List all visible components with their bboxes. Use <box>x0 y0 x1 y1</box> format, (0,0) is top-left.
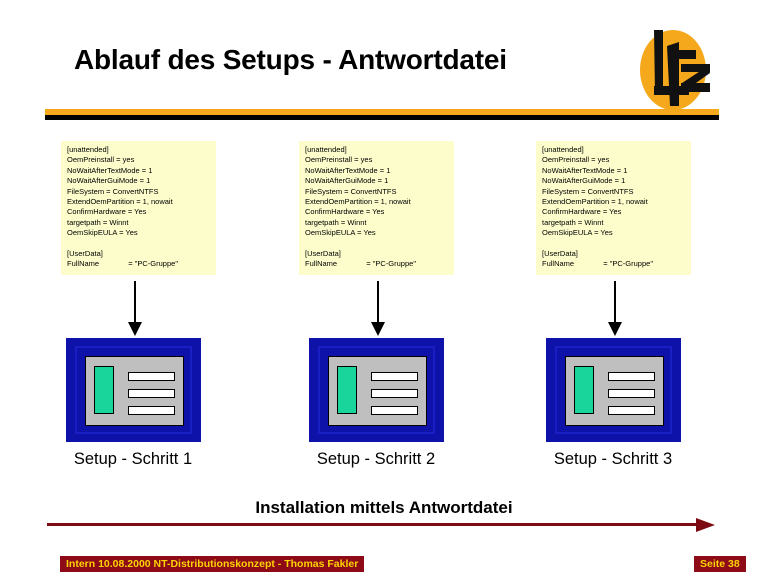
lrz-logo <box>634 28 716 112</box>
process-caption: Installation mittels Antwortdatei <box>0 498 768 518</box>
screen-line-1 <box>128 372 175 381</box>
step-label-1: Setup - Schritt 1 <box>33 450 233 469</box>
answer-file-box-3: [unattended] OemPreinstall = yes NoWaitA… <box>536 141 691 275</box>
screen-panel-icon <box>337 366 357 414</box>
screen-line-2 <box>608 389 655 398</box>
screen-line-2 <box>128 389 175 398</box>
screen-panel-icon <box>94 366 114 414</box>
monitor-screen <box>565 356 664 426</box>
footer-text: Intern 10.08.2000 NT-Distributionskonzep… <box>66 558 358 570</box>
monitor-screen <box>328 356 427 426</box>
screen-line-3 <box>128 406 175 415</box>
screen-panel-icon <box>574 366 594 414</box>
footer-bar: Intern 10.08.2000 NT-Distributionskonzep… <box>60 556 364 572</box>
arrow-shaft <box>377 281 379 325</box>
down-arrow-icon-2 <box>371 281 385 337</box>
answer-file-box-2: [unattended] OemPreinstall = yes NoWaitA… <box>299 141 454 275</box>
step-label-3: Setup - Schritt 3 <box>513 450 713 469</box>
header-rule-black <box>45 115 719 120</box>
computer-monitor-icon-1 <box>66 338 201 442</box>
arrow-head <box>371 322 385 336</box>
screen-line-1 <box>608 372 655 381</box>
screen-line-1 <box>371 372 418 381</box>
arrow-shaft <box>614 281 616 325</box>
computer-monitor-icon-2 <box>309 338 444 442</box>
step-label-2: Setup - Schritt 2 <box>276 450 476 469</box>
arrow-head <box>608 322 622 336</box>
screen-line-2 <box>371 389 418 398</box>
process-arrow-icon <box>47 518 715 532</box>
lrz-logo-mark-icon <box>634 28 716 112</box>
screen-line-3 <box>608 406 655 415</box>
arrow-head <box>696 518 715 532</box>
page-number-badge: Seite 38 <box>694 556 746 572</box>
computer-monitor-icon-3 <box>546 338 681 442</box>
monitor-screen <box>85 356 184 426</box>
screen-line-3 <box>371 406 418 415</box>
answer-file-box-1: [unattended] OemPreinstall = yes NoWaitA… <box>61 141 216 275</box>
page-number-text: Seite 38 <box>700 558 740 570</box>
page-title: Ablauf des Setups - Antwortdatei <box>74 44 507 76</box>
arrow-shaft <box>134 281 136 325</box>
arrow-head <box>128 322 142 336</box>
down-arrow-icon-3 <box>608 281 622 337</box>
arrow-shaft <box>47 523 699 526</box>
down-arrow-icon-1 <box>128 281 142 337</box>
